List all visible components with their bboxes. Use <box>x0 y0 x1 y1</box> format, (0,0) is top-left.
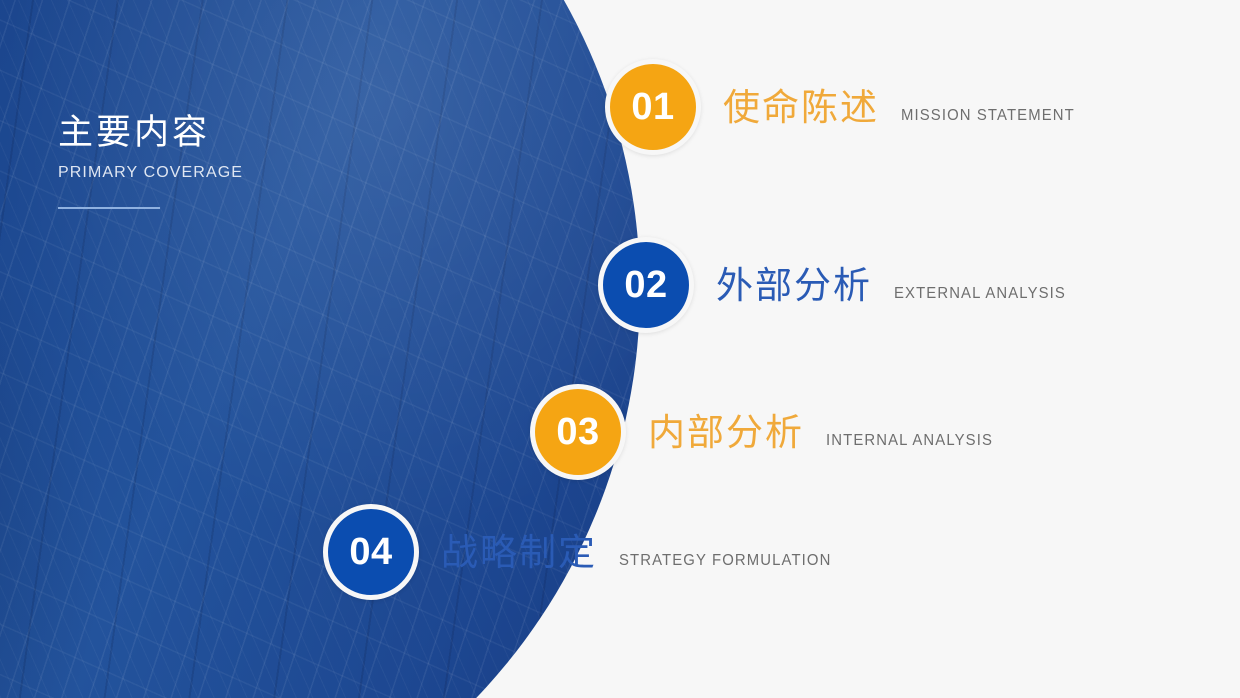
agenda-labels-04: 战略制定 STRATEGY FORMULATION <box>441 534 847 571</box>
agenda-badge-02[interactable]: 02 <box>598 237 694 333</box>
agenda-labels-01: 使命陈述 MISSION STATEMENT <box>723 89 1088 126</box>
agenda-item-02[interactable]: 02 外部分析 EXTERNAL ANALYSIS <box>598 237 1079 333</box>
title-divider <box>58 207 160 209</box>
agenda-item-03[interactable]: 03 内部分析 INTERNAL ANALYSIS <box>530 384 1006 480</box>
agenda-item-04[interactable]: 04 战略制定 STRATEGY FORMULATION <box>323 504 847 600</box>
agenda-labels-02: 外部分析 EXTERNAL ANALYSIS <box>716 267 1079 304</box>
agenda-item-01[interactable]: 01 使命陈述 MISSION STATEMENT <box>605 59 1088 155</box>
agenda-title-english-02: EXTERNAL ANALYSIS <box>894 286 1066 302</box>
agenda-number-02: 02 <box>624 266 667 304</box>
agenda-title-chinese-02: 外部分析 <box>716 267 872 304</box>
agenda-labels-03: 内部分析 INTERNAL ANALYSIS <box>648 414 1006 451</box>
agenda-title-english-01: MISSION STATEMENT <box>901 108 1075 124</box>
agenda-title-chinese-03: 内部分析 <box>648 414 804 451</box>
agenda-title-english-04: STRATEGY FORMULATION <box>619 553 831 569</box>
agenda-number-01: 01 <box>631 88 674 126</box>
title-chinese: 主要内容 <box>58 112 478 155</box>
agenda-number-03: 03 <box>556 413 599 451</box>
agenda-title-chinese-04: 战略制定 <box>441 534 597 571</box>
page-title: 主要内容 PRIMARY COVERAGE <box>58 112 478 209</box>
agenda-number-04: 04 <box>349 533 392 571</box>
agenda-title-english-03: INTERNAL ANALYSIS <box>826 433 993 449</box>
agenda-badge-04[interactable]: 04 <box>323 504 419 600</box>
presentation-slide: 主要内容 PRIMARY COVERAGE 01 使命陈述 MISSION ST… <box>0 0 1240 698</box>
agenda-badge-03[interactable]: 03 <box>530 384 626 480</box>
agenda-badge-01[interactable]: 01 <box>605 59 701 155</box>
agenda-title-chinese-01: 使命陈述 <box>723 89 879 126</box>
title-english: PRIMARY COVERAGE <box>58 164 478 182</box>
